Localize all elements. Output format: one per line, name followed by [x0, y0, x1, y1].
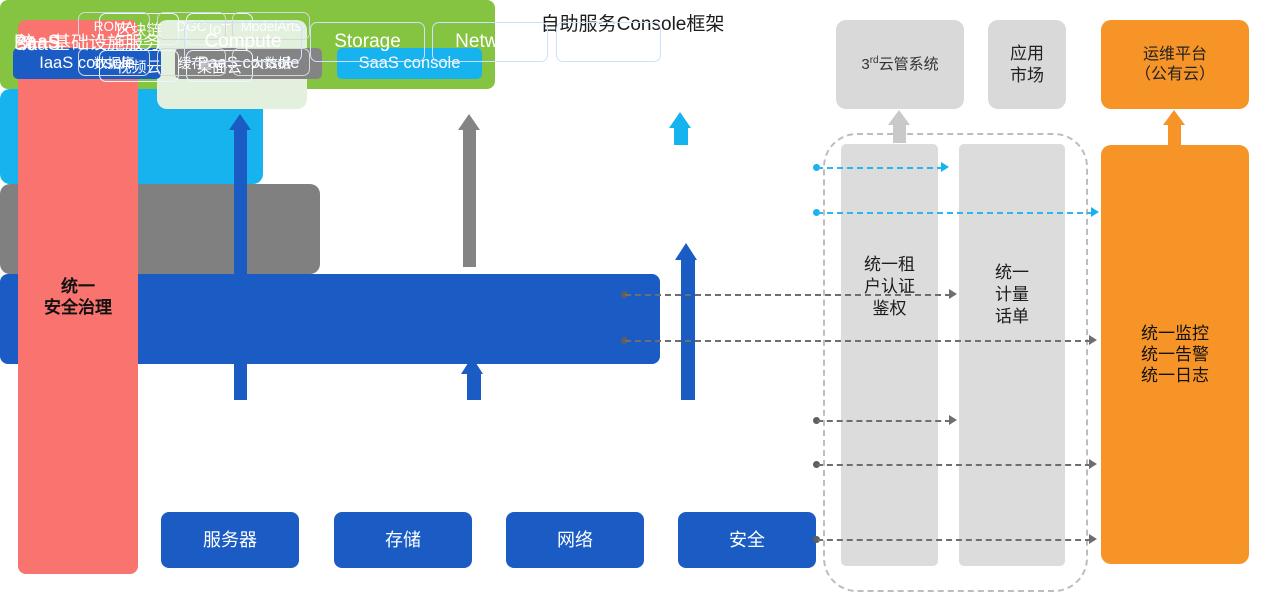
ops-alarm-label: 统一告警 [1141, 344, 1209, 365]
metering-line1: 统一 [959, 262, 1065, 284]
security-pillar-line1: 统一 [44, 276, 112, 297]
architecture-diagram: 统一 安全治理 API网关 自助服务Console框架 IaaS console… [0, 0, 1265, 605]
shared-column-tenant-auth[interactable]: 统一租 户认证 鉴权 [841, 144, 938, 566]
hardware-storage-box[interactable]: 存储 [334, 512, 472, 568]
app-market-box[interactable]: 应用 市场 [988, 20, 1066, 109]
app-market-line2: 市场 [1010, 65, 1044, 86]
unified-infrastructure-label: 统一基础设施服务 [17, 29, 161, 55]
third-party-cloud-management-box[interactable]: 3rd云管系统 [836, 20, 964, 109]
shared-column-metering-billing[interactable]: 统一 计量 话单 [959, 144, 1065, 566]
metering-line2: 计量 [959, 284, 1065, 306]
security-governance-pillar[interactable]: 统一 安全治理 [18, 20, 138, 574]
security-pillar-line2: 安全治理 [44, 297, 112, 318]
infra-service-cce[interactable]: CCE [556, 22, 661, 62]
metering-line3: 话单 [959, 306, 1065, 328]
third-party-label: 3rd云管系统 [861, 55, 938, 75]
tenant-auth-line1: 统一租 [841, 254, 938, 276]
ops-platform-header-box[interactable]: 运维平台 （公有云） [1101, 20, 1249, 109]
ops-platform-subtitle: （公有云） [1135, 65, 1215, 85]
hardware-security-box[interactable]: 安全 [678, 512, 816, 568]
app-market-line1: 应用 [1010, 43, 1044, 64]
ops-platform-title: 运维平台 [1135, 45, 1215, 65]
tenant-auth-line3: 鉴权 [841, 298, 938, 320]
hardware-server-box[interactable]: 服务器 [161, 512, 299, 568]
infra-service-compute[interactable]: Compute [184, 22, 302, 62]
infra-service-network[interactable]: Network [432, 22, 548, 62]
infra-service-storage[interactable]: Storage [310, 22, 425, 62]
ops-log-label: 统一日志 [1141, 365, 1209, 386]
ops-platform-body-box[interactable]: 统一监控 统一告警 统一日志 [1101, 145, 1249, 564]
ops-monitor-label: 统一监控 [1141, 323, 1209, 344]
hardware-network-box[interactable]: 网络 [506, 512, 644, 568]
